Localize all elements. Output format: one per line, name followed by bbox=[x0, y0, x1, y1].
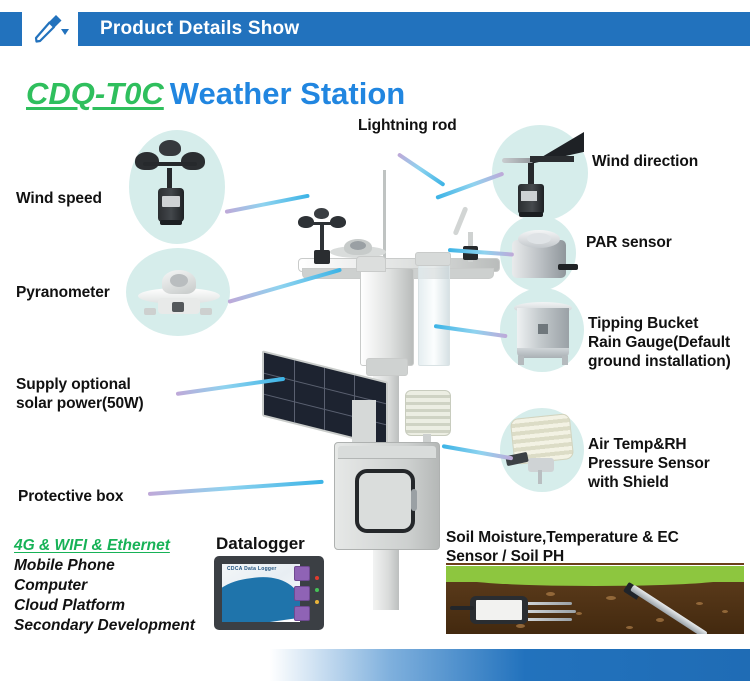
label-air-temp-line1: Air Temp&RH bbox=[588, 436, 687, 453]
datalogger-key-3[interactable] bbox=[294, 606, 310, 621]
radiation-shield-cylinder bbox=[360, 268, 414, 366]
connectivity-item-cloud-platform: Cloud Platform bbox=[14, 596, 195, 616]
par-sensor-image bbox=[508, 222, 570, 284]
wind-speed-sensor-image bbox=[133, 138, 223, 234]
datalogger-screen-brand: CDCA Data Logger bbox=[227, 566, 277, 572]
label-rain-gauge-line3: ground installation) bbox=[588, 353, 731, 370]
connectivity-item-mobile-phone: Mobile Phone bbox=[14, 556, 195, 576]
rain-gauge-image bbox=[512, 296, 574, 366]
label-lightning-rod: Lightning rod bbox=[358, 116, 457, 135]
label-solar-power-line2: solar power(50W) bbox=[16, 395, 144, 412]
soil-moisture-prong-2 bbox=[528, 610, 576, 613]
shield-cap bbox=[356, 256, 386, 272]
leader-line-lightning-rod bbox=[397, 152, 446, 187]
wind-direction-sensor-image bbox=[500, 128, 586, 218]
datalogger-device: CDCA Data Logger bbox=[214, 556, 324, 630]
connectivity-item-secondary-development: Secondary Development bbox=[14, 616, 195, 636]
soil-sensor-panel bbox=[446, 566, 744, 634]
label-solar-power-line1: Supply optional bbox=[16, 376, 131, 393]
datalogger-key-2[interactable] bbox=[294, 586, 310, 601]
label-air-temp: Air Temp&RH Pressure Sensor with Shield bbox=[588, 435, 710, 492]
soil-moisture-cable bbox=[450, 606, 474, 610]
label-rain-gauge: Tipping Bucket Rain Gauge(Default ground… bbox=[588, 314, 731, 371]
datalogger-led-red bbox=[315, 576, 319, 580]
datalogger-led-green bbox=[315, 588, 319, 592]
datalogger-screen-wave bbox=[222, 572, 300, 622]
label-protective-box: Protective box bbox=[18, 487, 123, 506]
label-pyranometer: Pyranometer bbox=[16, 283, 110, 302]
soil-moisture-prong-1 bbox=[528, 602, 572, 605]
air-temp-shield-on-mast bbox=[405, 390, 449, 444]
leader-line-pyranometer bbox=[227, 268, 342, 304]
eyedropper-icon[interactable] bbox=[22, 0, 78, 58]
datalogger-led-amber bbox=[315, 600, 319, 604]
datalogger-key-1[interactable] bbox=[294, 566, 310, 581]
connectivity-item-computer: Computer bbox=[14, 576, 195, 596]
air-temp-shield-image bbox=[506, 414, 580, 486]
connectivity-heading: 4G & WIFI & Ethernet bbox=[14, 536, 195, 556]
page-title: Product Details Show bbox=[100, 18, 299, 40]
label-wind-direction: Wind direction bbox=[592, 152, 698, 171]
label-wind-speed: Wind speed bbox=[16, 189, 102, 208]
soil-moisture-sensor-label bbox=[476, 600, 522, 620]
eyedropper-glyph bbox=[30, 12, 70, 46]
label-par-sensor: PAR sensor bbox=[586, 233, 672, 252]
label-solar-power: Supply optional solar power(50W) bbox=[16, 375, 144, 413]
soil-moisture-sensor bbox=[470, 596, 528, 624]
soil-grass bbox=[446, 566, 744, 582]
protective-box bbox=[334, 442, 440, 550]
soil-panel-top-rule bbox=[446, 563, 744, 565]
connectivity-block: 4G & WIFI & Ethernet Mobile Phone Comput… bbox=[14, 536, 195, 636]
product-model: CDQ-T0C bbox=[26, 76, 164, 111]
leader-line-protective-box bbox=[148, 480, 324, 496]
datalogger-screen: CDCA Data Logger bbox=[222, 564, 300, 622]
footer-gradient-bar bbox=[0, 649, 750, 681]
product-name: Weather Station bbox=[170, 76, 405, 111]
label-air-temp-line2: Pressure Sensor bbox=[588, 455, 710, 472]
label-rain-gauge-line2: Rain Gauge(Default bbox=[588, 334, 730, 351]
rain-gauge-tube bbox=[418, 262, 450, 366]
soil-moisture-prong-3 bbox=[528, 618, 572, 621]
label-rain-gauge-line1: Tipping Bucket bbox=[588, 315, 698, 332]
datalogger-title: Datalogger bbox=[216, 534, 305, 554]
pole-collar bbox=[366, 358, 408, 376]
label-soil-sensor: Soil Moisture,Temperature & EC Sensor / … bbox=[446, 528, 679, 566]
label-air-temp-line3: with Shield bbox=[588, 474, 669, 491]
label-soil-sensor-line1: Soil Moisture,Temperature & EC bbox=[446, 529, 679, 546]
product-title: CDQ-T0CWeather Station bbox=[26, 76, 405, 112]
tube-cap bbox=[415, 252, 451, 266]
pyranometer-sensor-image bbox=[138, 264, 220, 322]
